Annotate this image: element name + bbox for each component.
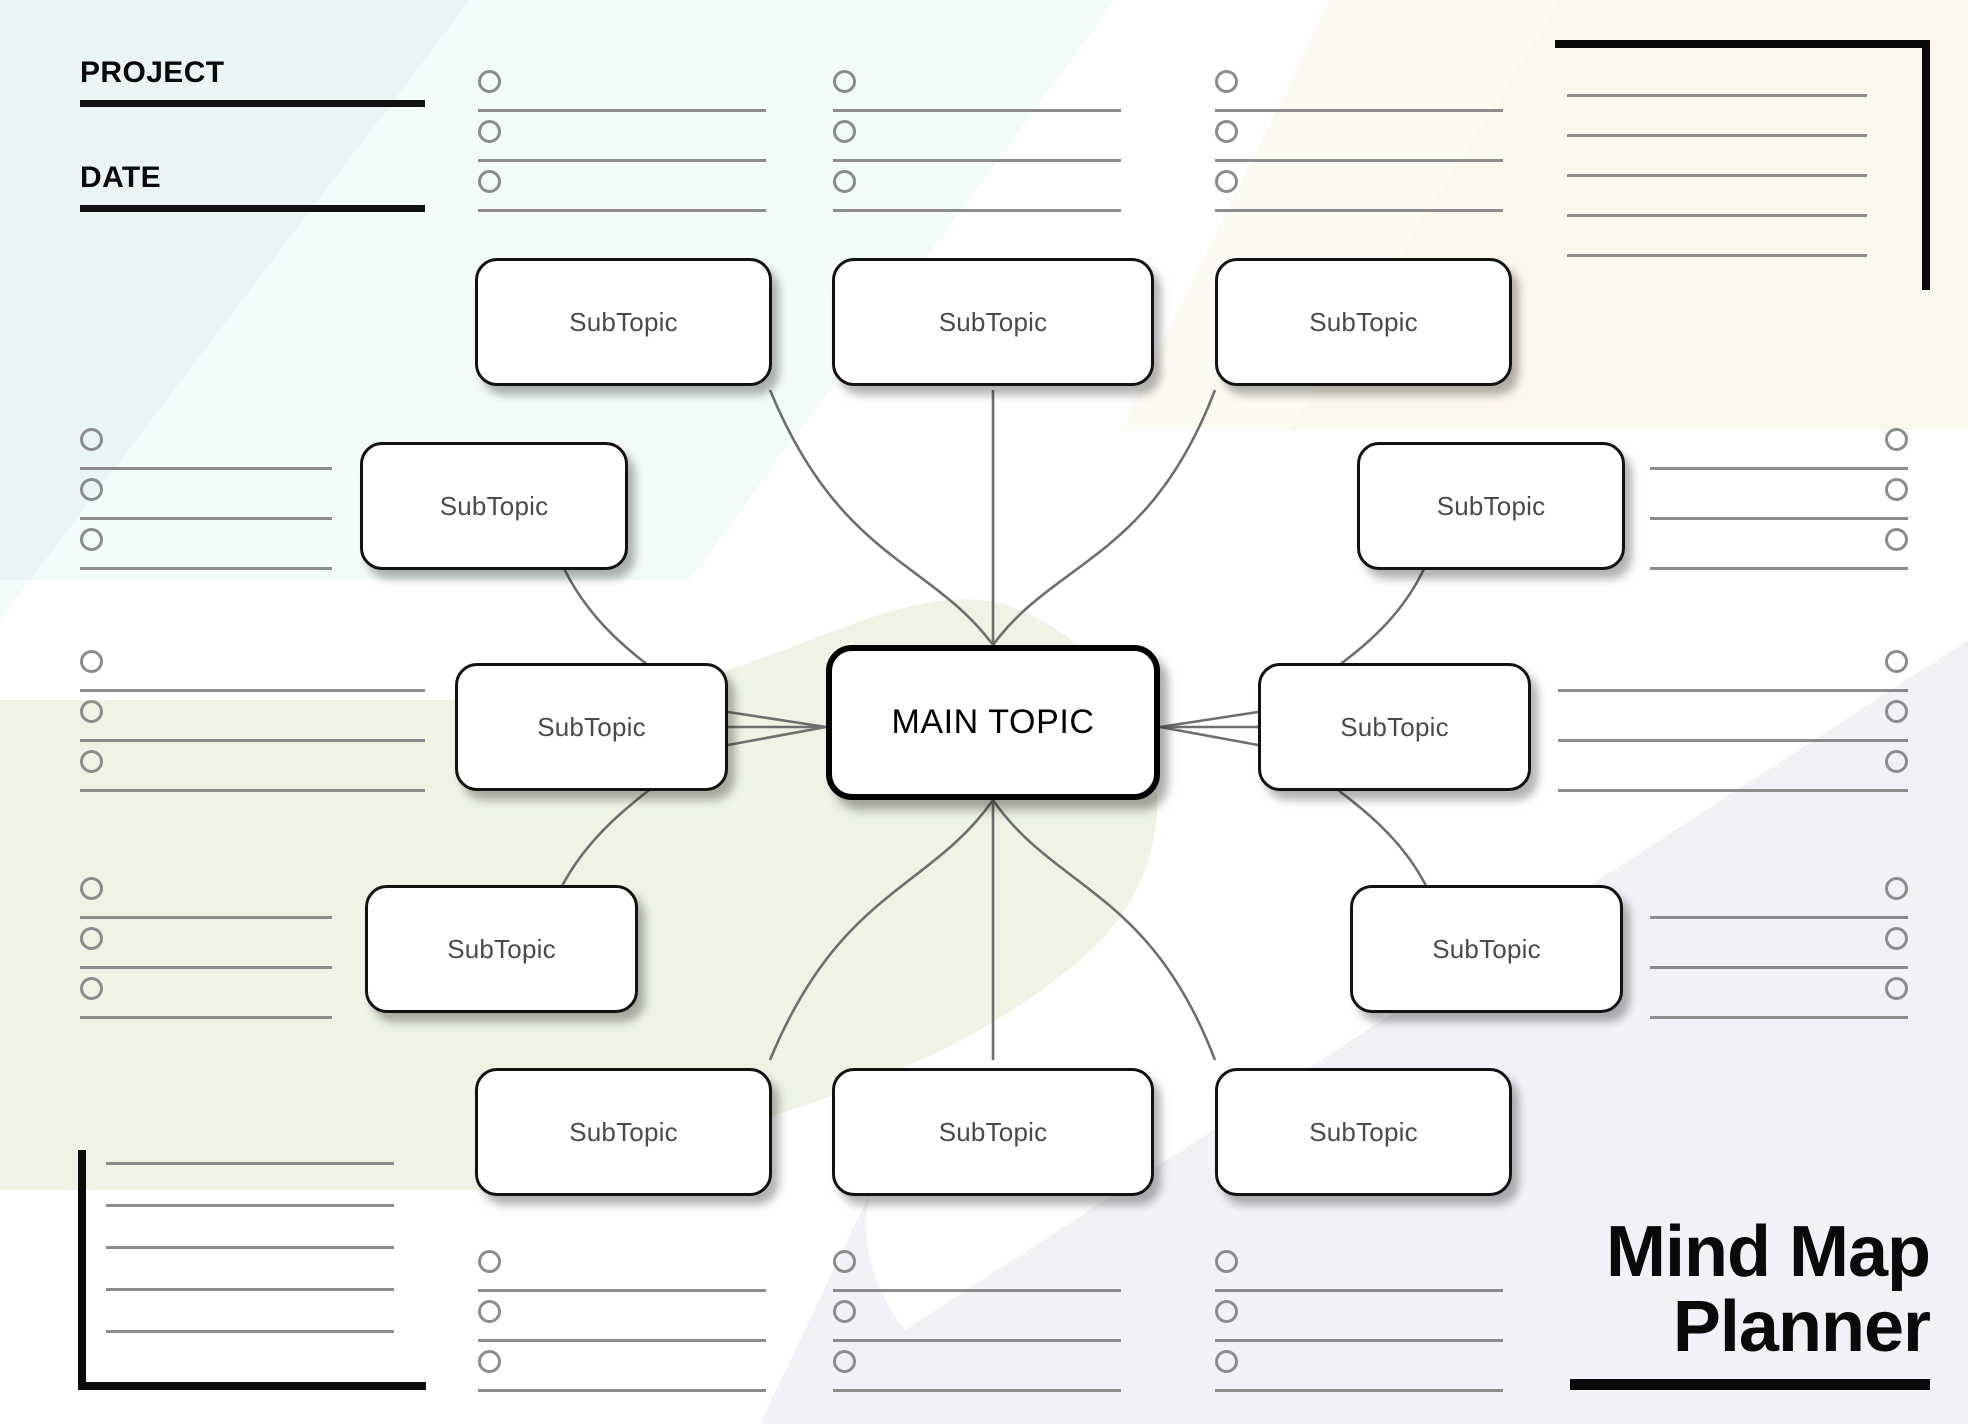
write-on-line[interactable] bbox=[1215, 1389, 1503, 1392]
write-on-line[interactable] bbox=[833, 1289, 1121, 1292]
note-line[interactable] bbox=[106, 1246, 394, 1249]
checklist-top-col-1[interactable] bbox=[478, 70, 766, 220]
subtopic-label: SubTopic bbox=[939, 307, 1048, 338]
subtopic-label: SubTopic bbox=[1309, 307, 1418, 338]
checkbox-circle-icon[interactable] bbox=[1215, 1250, 1238, 1273]
write-on-line[interactable] bbox=[1650, 916, 1908, 919]
write-on-line[interactable] bbox=[1558, 789, 1908, 792]
checklist-row[interactable] bbox=[1215, 1300, 1503, 1350]
checklist-row[interactable] bbox=[1650, 478, 1908, 528]
write-on-line[interactable] bbox=[833, 109, 1121, 112]
subtopic-label: SubTopic bbox=[1432, 934, 1541, 965]
note-line[interactable] bbox=[1567, 134, 1867, 137]
checklist-row[interactable] bbox=[478, 1300, 766, 1350]
subtopic-node-top-left[interactable]: SubTopic bbox=[475, 258, 772, 386]
checklist-right-group-2[interactable] bbox=[1558, 650, 1908, 800]
write-on-line[interactable] bbox=[1650, 517, 1908, 520]
note-line[interactable] bbox=[106, 1288, 394, 1291]
checkbox-circle-icon[interactable] bbox=[1885, 428, 1908, 451]
checklist-row[interactable] bbox=[1215, 1350, 1503, 1400]
subtopic-label: SubTopic bbox=[939, 1117, 1048, 1148]
checkbox-circle-icon[interactable] bbox=[833, 1250, 856, 1273]
checklist-row[interactable] bbox=[833, 120, 1121, 170]
write-on-line[interactable] bbox=[1650, 567, 1908, 570]
checklist-row[interactable] bbox=[1650, 927, 1908, 977]
checklist-row[interactable] bbox=[1650, 977, 1908, 1027]
checkbox-circle-icon[interactable] bbox=[833, 1300, 856, 1323]
write-on-line[interactable] bbox=[833, 1339, 1121, 1342]
checklist-right-group-3[interactable] bbox=[1650, 877, 1908, 1027]
checkbox-circle-icon[interactable] bbox=[478, 1350, 501, 1373]
write-on-line[interactable] bbox=[478, 1339, 766, 1342]
checklist-row[interactable] bbox=[833, 1250, 1121, 1300]
subtopic-node-top-right[interactable]: SubTopic bbox=[1215, 258, 1512, 386]
subtopic-label: SubTopic bbox=[569, 1117, 678, 1148]
checkbox-circle-icon[interactable] bbox=[80, 478, 103, 501]
date-field-label: DATE bbox=[80, 163, 425, 193]
subtopic-label: SubTopic bbox=[1437, 491, 1546, 522]
write-on-line[interactable] bbox=[1215, 209, 1503, 212]
checkbox-circle-icon[interactable] bbox=[1885, 478, 1908, 501]
checklist-row[interactable] bbox=[1650, 428, 1908, 478]
checkbox-circle-icon[interactable] bbox=[80, 700, 103, 723]
checklist-row[interactable] bbox=[80, 650, 425, 700]
checkbox-circle-icon[interactable] bbox=[1215, 170, 1238, 193]
write-on-line[interactable] bbox=[80, 789, 425, 792]
write-on-line[interactable] bbox=[1650, 1016, 1908, 1019]
checkbox-circle-icon[interactable] bbox=[1885, 650, 1908, 673]
checkbox-circle-icon[interactable] bbox=[833, 120, 856, 143]
mind-map-planner-page: PROJECT DATE bbox=[0, 0, 1968, 1424]
checklist-left-group-3[interactable] bbox=[80, 877, 332, 1027]
checkbox-circle-icon[interactable] bbox=[833, 70, 856, 93]
checklist-row[interactable] bbox=[833, 1350, 1121, 1400]
write-on-line[interactable] bbox=[1215, 1289, 1503, 1292]
main-topic-node[interactable]: MAIN TOPIC bbox=[826, 645, 1160, 800]
checklist-top-col-2[interactable] bbox=[833, 70, 1121, 220]
subtopic-label: SubTopic bbox=[569, 307, 678, 338]
checklist-row[interactable] bbox=[80, 478, 332, 528]
checkbox-circle-icon[interactable] bbox=[1885, 977, 1908, 1000]
write-on-line[interactable] bbox=[833, 209, 1121, 212]
note-line[interactable] bbox=[1567, 174, 1867, 177]
checklist-bottom-col-1[interactable] bbox=[478, 1250, 766, 1400]
note-line[interactable] bbox=[1567, 94, 1867, 97]
write-on-line[interactable] bbox=[1558, 689, 1908, 692]
page-title: Mind Map Planner bbox=[1570, 1215, 1930, 1390]
write-on-line[interactable] bbox=[1215, 159, 1503, 162]
checklist-row[interactable] bbox=[478, 1350, 766, 1400]
write-on-line[interactable] bbox=[80, 689, 425, 692]
date-field[interactable]: DATE bbox=[80, 163, 425, 212]
checkbox-circle-icon[interactable] bbox=[1885, 528, 1908, 551]
checklist-row[interactable] bbox=[80, 977, 332, 1027]
checkbox-circle-icon[interactable] bbox=[478, 120, 501, 143]
subtopic-node-lower-right[interactable]: SubTopic bbox=[1350, 885, 1623, 1013]
title-line-1: Mind Map bbox=[1570, 1215, 1930, 1290]
bracket-left-edge bbox=[78, 1150, 86, 1390]
date-field-rule bbox=[80, 205, 425, 212]
top-right-notes-panel[interactable] bbox=[1555, 40, 1930, 290]
main-topic-label: MAIN TOPIC bbox=[891, 703, 1094, 742]
note-line[interactable] bbox=[1567, 254, 1867, 257]
subtopic-node-upper-left[interactable]: SubTopic bbox=[360, 442, 628, 570]
checklist-left-group-1[interactable] bbox=[80, 428, 332, 578]
write-on-line[interactable] bbox=[1650, 467, 1908, 470]
checklist-row[interactable] bbox=[1558, 700, 1908, 750]
subtopic-node-lower-left[interactable]: SubTopic bbox=[365, 885, 638, 1013]
checklist-right-group-1[interactable] bbox=[1650, 428, 1908, 578]
checklist-row[interactable] bbox=[833, 70, 1121, 120]
subtopic-node-mid-left[interactable]: SubTopic bbox=[455, 663, 728, 791]
write-on-line[interactable] bbox=[478, 1289, 766, 1292]
bracket-top-edge bbox=[1555, 40, 1930, 48]
bracket-bottom-edge bbox=[78, 1382, 426, 1390]
checkbox-circle-icon[interactable] bbox=[1215, 1350, 1238, 1373]
checkbox-circle-icon[interactable] bbox=[80, 528, 103, 551]
title-line-2: Planner bbox=[1570, 1290, 1930, 1365]
checklist-row[interactable] bbox=[478, 170, 766, 220]
checkbox-circle-icon[interactable] bbox=[1885, 700, 1908, 723]
checkbox-circle-icon[interactable] bbox=[478, 70, 501, 93]
note-line[interactable] bbox=[106, 1162, 394, 1165]
write-on-line[interactable] bbox=[80, 739, 425, 742]
write-on-line[interactable] bbox=[80, 467, 332, 470]
checkbox-circle-icon[interactable] bbox=[478, 170, 501, 193]
subtopic-node-bottom-right[interactable]: SubTopic bbox=[1215, 1068, 1512, 1196]
write-on-line[interactable] bbox=[478, 1389, 766, 1392]
checkbox-circle-icon[interactable] bbox=[80, 977, 103, 1000]
write-on-line[interactable] bbox=[833, 1389, 1121, 1392]
checklist-row[interactable] bbox=[1558, 650, 1908, 700]
project-field[interactable]: PROJECT bbox=[80, 58, 425, 107]
checkbox-circle-icon[interactable] bbox=[80, 650, 103, 673]
checkbox-circle-icon[interactable] bbox=[478, 1300, 501, 1323]
subtopic-node-bottom-left[interactable]: SubTopic bbox=[475, 1068, 772, 1196]
checklist-row[interactable] bbox=[1650, 528, 1908, 578]
project-field-label: PROJECT bbox=[80, 58, 425, 88]
checklist-row[interactable] bbox=[478, 1250, 766, 1300]
checkbox-circle-icon[interactable] bbox=[80, 927, 103, 950]
subtopic-label: SubTopic bbox=[1309, 1117, 1418, 1148]
checklist-row[interactable] bbox=[1215, 170, 1503, 220]
checklist-row[interactable] bbox=[80, 700, 425, 750]
title-underline bbox=[1570, 1379, 1930, 1390]
write-on-line[interactable] bbox=[1215, 109, 1503, 112]
subtopic-label: SubTopic bbox=[447, 934, 556, 965]
checklist-row[interactable] bbox=[1215, 70, 1503, 120]
write-on-line[interactable] bbox=[1558, 739, 1908, 742]
checkbox-circle-icon[interactable] bbox=[1885, 877, 1908, 900]
checkbox-circle-icon[interactable] bbox=[1215, 70, 1238, 93]
checklist-row[interactable] bbox=[833, 1300, 1121, 1350]
subtopic-label: SubTopic bbox=[537, 712, 646, 743]
write-on-line[interactable] bbox=[478, 109, 766, 112]
write-on-line[interactable] bbox=[833, 159, 1121, 162]
checklist-bottom-col-3[interactable] bbox=[1215, 1250, 1503, 1400]
checklist-top-col-3[interactable] bbox=[1215, 70, 1503, 220]
note-line[interactable] bbox=[106, 1204, 394, 1207]
checkbox-circle-icon[interactable] bbox=[833, 170, 856, 193]
subtopic-node-mid-right[interactable]: SubTopic bbox=[1258, 663, 1531, 791]
checklist-row[interactable] bbox=[80, 750, 425, 800]
project-field-rule bbox=[80, 100, 425, 107]
checkbox-circle-icon[interactable] bbox=[80, 428, 103, 451]
checkbox-circle-icon[interactable] bbox=[478, 1250, 501, 1273]
write-on-line[interactable] bbox=[80, 517, 332, 520]
note-line[interactable] bbox=[1567, 214, 1867, 217]
write-on-line[interactable] bbox=[478, 209, 766, 212]
checklist-row[interactable] bbox=[80, 927, 332, 977]
write-on-line[interactable] bbox=[80, 567, 332, 570]
checkbox-circle-icon[interactable] bbox=[1215, 120, 1238, 143]
subtopic-node-upper-right[interactable]: SubTopic bbox=[1357, 442, 1625, 570]
checklist-row[interactable] bbox=[1558, 750, 1908, 800]
checklist-row[interactable] bbox=[80, 877, 332, 927]
checklist-bottom-col-2[interactable] bbox=[833, 1250, 1121, 1400]
subtopic-label: SubTopic bbox=[1340, 712, 1449, 743]
checklist-row[interactable] bbox=[80, 428, 332, 478]
checklist-row[interactable] bbox=[478, 70, 766, 120]
checkbox-circle-icon[interactable] bbox=[1215, 1300, 1238, 1323]
write-on-line[interactable] bbox=[80, 1016, 332, 1019]
checklist-left-group-2[interactable] bbox=[80, 650, 425, 800]
checklist-row[interactable] bbox=[80, 528, 332, 578]
checklist-row[interactable] bbox=[478, 120, 766, 170]
checklist-row[interactable] bbox=[1215, 1250, 1503, 1300]
subtopic-node-bottom-center[interactable]: SubTopic bbox=[832, 1068, 1154, 1196]
write-on-line[interactable] bbox=[80, 916, 332, 919]
checkbox-circle-icon[interactable] bbox=[1885, 927, 1908, 950]
checklist-row[interactable] bbox=[1650, 877, 1908, 927]
checkbox-circle-icon[interactable] bbox=[833, 1350, 856, 1373]
checkbox-circle-icon[interactable] bbox=[80, 877, 103, 900]
checkbox-circle-icon[interactable] bbox=[80, 750, 103, 773]
subtopic-label: SubTopic bbox=[440, 491, 549, 522]
checklist-row[interactable] bbox=[1215, 120, 1503, 170]
note-line[interactable] bbox=[106, 1330, 394, 1333]
checkbox-circle-icon[interactable] bbox=[1885, 750, 1908, 773]
write-on-line[interactable] bbox=[478, 159, 766, 162]
subtopic-node-top-center[interactable]: SubTopic bbox=[832, 258, 1154, 386]
write-on-line[interactable] bbox=[1650, 966, 1908, 969]
write-on-line[interactable] bbox=[80, 966, 332, 969]
checklist-row[interactable] bbox=[833, 170, 1121, 220]
bracket-right-edge bbox=[1922, 40, 1930, 290]
bottom-left-notes-panel[interactable] bbox=[78, 1150, 426, 1390]
write-on-line[interactable] bbox=[1215, 1339, 1503, 1342]
